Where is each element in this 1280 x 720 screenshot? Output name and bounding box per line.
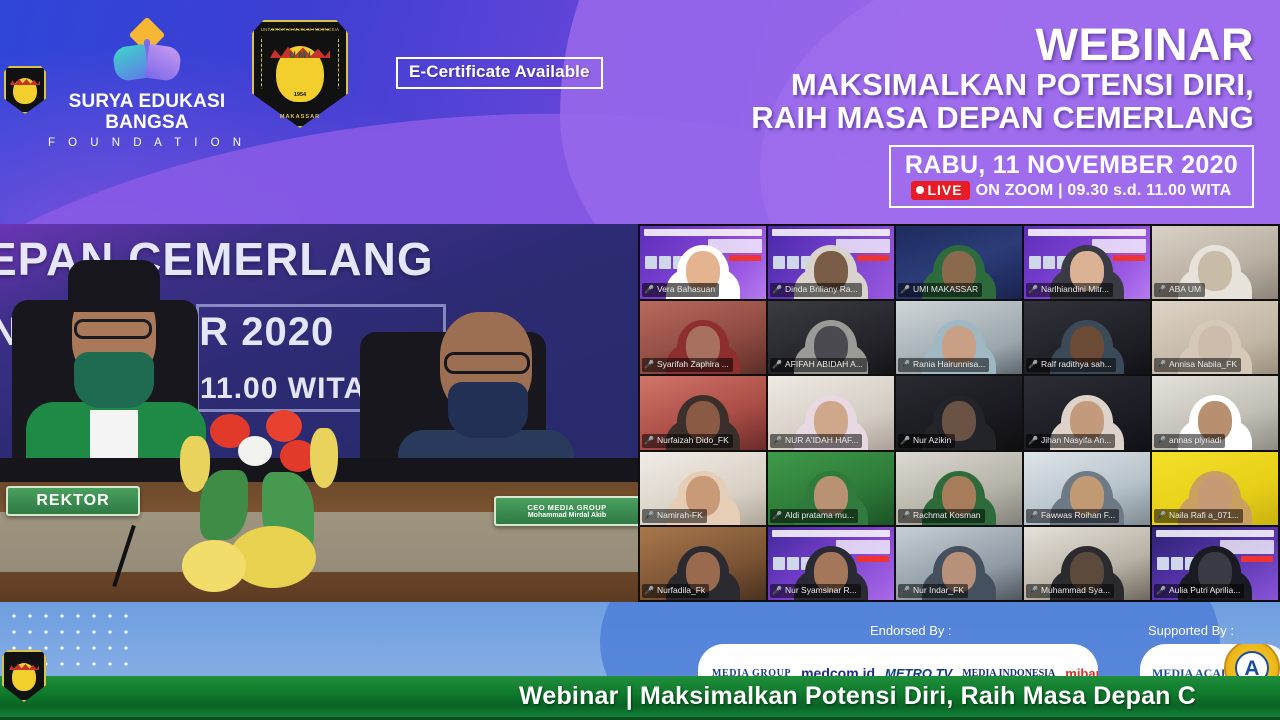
speaker-right-facemask <box>448 382 528 438</box>
participant-tile[interactable]: 🎤Dinda Briliany Ra... <box>768 226 894 299</box>
participant-name-label: 🎤Nurfaizah Dido_FK <box>642 434 733 448</box>
org-subtitle: F O U N D A T I O N <box>42 137 252 149</box>
participant-tile[interactable]: 🎤Syarifah Zaphira ... <box>640 301 766 374</box>
microphone-muted-icon: 🎤 <box>1028 360 1038 369</box>
participant-name-text: Ralf radithya sah... <box>1041 359 1112 370</box>
microphone-muted-icon: 🎤 <box>1156 285 1166 294</box>
event-header-banner: SURYA EDUKASI BANGSA F O U N D A T I O N… <box>0 0 1280 224</box>
participant-tile[interactable]: 🎤Nurfaizah Dido_FK <box>640 376 766 449</box>
participant-tile[interactable]: 🎤Aulia Putri Aprilia... <box>1152 527 1278 600</box>
event-title-block: WEBINAR MAKSIMALKAN POTENSI DIRI, RAIH M… <box>474 22 1254 208</box>
participant-name-label: 🎤AFIFAH ABIDAH A... <box>770 358 867 372</box>
microphone-muted-icon: 🎤 <box>772 360 782 369</box>
participant-name-label: 🎤Rachmat Kosman <box>898 509 985 523</box>
nameplate-ceo-title: CEO MEDIA GROUP <box>527 503 606 512</box>
participant-tile[interactable]: 🎤NUR A'IDAH HAF... <box>768 376 894 449</box>
participant-name-label: 🎤UMI MAKASSAR <box>898 283 982 297</box>
participant-name-text: ABA UM <box>1169 284 1201 295</box>
backdrop-text-line3: 11.00 WITA <box>200 372 366 406</box>
participant-name-text: Fawwas Roihan F... <box>1041 510 1115 521</box>
participant-name-text: Aulia Putri Aprilia... <box>1169 585 1240 596</box>
microphone-muted-icon: 🎤 <box>1156 436 1166 445</box>
participant-name-text: Nurfadila_Fk <box>657 585 705 596</box>
participant-name-label: 🎤Dinda Briliany Ra... <box>770 283 862 297</box>
microphone-muted-icon: 🎤 <box>772 436 782 445</box>
participant-tile[interactable]: 🎤Nur Indar_FK <box>896 527 1022 600</box>
participant-name-text: annas plyriadi <box>1169 435 1221 446</box>
microphone-muted-icon: 🎤 <box>772 511 782 520</box>
participant-name-label: 🎤Syarifah Zaphira ... <box>642 358 733 372</box>
participant-grid[interactable]: 🎤Vera Bahasuan🎤Dinda Briliany Ra...🎤UMI … <box>638 224 1280 602</box>
participant-tile[interactable]: 🎤Nurfadila_Fk <box>640 527 766 600</box>
participant-tile[interactable]: 🎤Nur Syamsinar R... <box>768 527 894 600</box>
participant-name-label: 🎤Muhammad Sya... <box>1026 584 1114 598</box>
speaker-left-songkok <box>68 260 160 312</box>
umi-logo-letters: U M I <box>252 50 348 60</box>
participant-name-text: Annisa Nabila_FK <box>1169 359 1237 370</box>
microphone-muted-icon: 🎤 <box>644 511 654 520</box>
surya-edukasi-bangsa-logo: SURYA EDUKASI BANGSA F O U N D A T I O N <box>42 22 252 149</box>
live-badge: LIVE <box>911 181 969 200</box>
participant-name-text: Narlhiandini Mitr... <box>1041 284 1109 295</box>
participant-tile[interactable]: 🎤Fawwas Roihan F... <box>1024 452 1150 525</box>
participant-tile[interactable]: 🎤Aldi pratama mu... <box>768 452 894 525</box>
main-speaker-video[interactable]: EPAN CEMERLANG NOVEMBER 2020 11.00 WITA <box>0 224 638 602</box>
participant-name-text: AFIFAH ABIDAH A... <box>785 359 863 370</box>
microphone-muted-icon: 🎤 <box>644 436 654 445</box>
event-title-line2: MAKSIMALKAN POTENSI DIRI, <box>474 68 1254 101</box>
participant-name-label: 🎤Nurfadila_Fk <box>642 584 709 598</box>
supported-by-label: Supported By : <box>1148 623 1234 638</box>
participant-tile[interactable]: 🎤Annisa Nabila_FK <box>1152 301 1278 374</box>
participant-name-text: Muhammad Sya... <box>1041 585 1110 596</box>
nameplate-ceo-name: Mohammad Mirdal Akib <box>528 512 606 519</box>
speaker-left-facemask <box>74 352 154 408</box>
participant-name-text: UMI MAKASSAR <box>913 284 978 295</box>
participant-name-label: 🎤Vera Bahasuan <box>642 283 719 297</box>
nameplate-ceo: CEO MEDIA GROUP Mohammad Mirdal Akib <box>494 496 638 526</box>
participant-name-text: Syarifah Zaphira ... <box>657 359 729 370</box>
participant-name-label: 🎤Naila Rafi a_071... <box>1154 509 1243 523</box>
participant-name-label: 🎤ABA UM <box>1154 283 1205 297</box>
microphone-muted-icon: 🎤 <box>1156 586 1166 595</box>
participant-tile[interactable]: 🎤Narlhiandini Mitr... <box>1024 226 1150 299</box>
participant-name-text: NUR A'IDAH HAF... <box>785 435 858 446</box>
participant-name-text: Dinda Briliany Ra... <box>785 284 858 295</box>
microphone-muted-icon: 🎤 <box>1028 436 1038 445</box>
flower-arrangement <box>170 410 400 602</box>
participant-tile[interactable]: 🎤Muhammad Sya... <box>1024 527 1150 600</box>
participant-name-label: 🎤Rania Hairunnisa... <box>898 358 989 372</box>
umi-logo-year: 1954 <box>252 92 348 98</box>
microphone-muted-icon: 🎤 <box>900 285 910 294</box>
endorsed-by-label: Endorsed By : <box>870 623 952 638</box>
umi-logo-bottom-text: MAKASSAR <box>252 114 348 120</box>
event-title-webinar: WEBINAR <box>474 22 1254 68</box>
participant-tile[interactable]: 🎤Nur Azikin <box>896 376 1022 449</box>
live-label: LIVE <box>927 182 962 198</box>
live-dot-icon <box>916 186 924 194</box>
microphone-on-icon: 🎤 <box>644 285 654 294</box>
participant-name-label: 🎤Nur Indar_FK <box>898 584 968 598</box>
participant-tile[interactable]: 🎤Rania Hairunnisa... <box>896 301 1022 374</box>
nameplate-rektor-label: REKTOR <box>36 492 109 510</box>
participant-name-text: Rania Hairunnisa... <box>913 359 985 370</box>
microphone-muted-icon: 🎤 <box>1028 285 1038 294</box>
microphone-muted-icon: 🎤 <box>1156 511 1166 520</box>
participant-tile[interactable]: 🎤UMI MAKASSAR <box>896 226 1022 299</box>
participant-name-text: Aldi pratama mu... <box>785 510 854 521</box>
microphone-muted-icon: 🎤 <box>644 586 654 595</box>
participant-name-text: Jihan Nasyifa An... <box>1041 435 1111 446</box>
speaker-right-glasses <box>444 352 530 374</box>
umi-logo-ticker <box>2 650 46 702</box>
speaker-left-glasses <box>74 319 152 339</box>
participant-name-text: Naila Rafi a_071... <box>1169 510 1239 521</box>
participant-name-label: 🎤Namirah-FK <box>642 509 707 523</box>
microphone-muted-icon: 🎤 <box>644 360 654 369</box>
participant-tile[interactable]: 🎤Naila Rafi a_071... <box>1152 452 1278 525</box>
participant-tile[interactable]: 🎤annas plyriadi <box>1152 376 1278 449</box>
microphone-muted-icon: 🎤 <box>772 285 782 294</box>
participant-tile[interactable]: 🎤AFIFAH ABIDAH A... <box>768 301 894 374</box>
participant-tile[interactable]: 🎤Ralf radithya sah... <box>1024 301 1150 374</box>
participant-tile[interactable]: 🎤Jihan Nasyifa An... <box>1024 376 1150 449</box>
microphone-muted-icon: 🎤 <box>1028 586 1038 595</box>
participant-tile[interactable]: 🎤ABA UM <box>1152 226 1278 299</box>
event-time-row: LIVE ON ZOOM | 09.30 s.d. 11.00 WITA <box>905 181 1238 200</box>
participant-name-label: 🎤Nur Azikin <box>898 434 955 448</box>
microphone-muted-icon: 🎤 <box>772 586 782 595</box>
participant-tile[interactable]: 🎤Rachmat Kosman <box>896 452 1022 525</box>
event-date: RABU, 11 NOVEMBER 2020 <box>905 151 1238 179</box>
umi-university-logo: UNIVERSITAS MUSLIM INDONESIA U M I 1954 … <box>252 20 348 128</box>
event-schedule-box: RABU, 11 NOVEMBER 2020 LIVE ON ZOOM | 09… <box>889 145 1254 208</box>
participant-name-label: 🎤Fawwas Roihan F... <box>1026 509 1119 523</box>
participant-tile[interactable]: 🎤Vera Bahasuan <box>640 226 766 299</box>
umi-logo-top-text: UNIVERSITAS MUSLIM INDONESIA <box>252 27 348 32</box>
book-left-page-icon <box>112 44 149 82</box>
participant-name-label: 🎤annas plyriadi <box>1154 434 1225 448</box>
participant-name-text: Nur Indar_FK <box>913 585 964 596</box>
participant-name-text: Namirah-FK <box>657 510 703 521</box>
participant-name-label: 🎤Aldi pratama mu... <box>770 509 858 523</box>
participant-name-label: 🎤Aulia Putri Aprilia... <box>1154 584 1244 598</box>
participant-name-text: Nurfaizah Dido_FK <box>657 435 729 446</box>
participant-tile[interactable]: 🎤Namirah-FK <box>640 452 766 525</box>
participant-name-label: 🎤NUR A'IDAH HAF... <box>770 434 862 448</box>
org-name: SURYA EDUKASI BANGSA <box>42 92 252 134</box>
microphone-muted-icon: 🎤 <box>900 436 910 445</box>
book-right-page-icon <box>145 44 182 82</box>
participant-name-label: 🎤Ralf radithya sah... <box>1026 358 1116 372</box>
participant-name-text: Nur Syamsinar R... <box>785 585 857 596</box>
ticker-text: Webinar | Maksimalkan Potensi Diri, Raih… <box>519 682 1196 711</box>
bottom-ticker-bar: Webinar | Maksimalkan Potensi Diri, Raih… <box>0 676 1280 720</box>
microphone-muted-icon: 🎤 <box>900 511 910 520</box>
microphone-muted-icon: 🎤 <box>900 586 910 595</box>
microphone-muted-icon: 🎤 <box>1156 360 1166 369</box>
backdrop-text-line1: EPAN CEMERLANG <box>0 232 434 286</box>
participant-name-text: Rachmat Kosman <box>913 510 981 521</box>
microphone-muted-icon: 🎤 <box>900 360 910 369</box>
participant-name-text: Vera Bahasuan <box>657 284 715 295</box>
event-time: ON ZOOM | 09.30 s.d. 11.00 WITA <box>976 182 1232 200</box>
microphone-muted-icon: 🎤 <box>1028 511 1038 520</box>
participant-name-label: 🎤Jihan Nasyifa An... <box>1026 434 1115 448</box>
webinar-broadcast-screen: SURYA EDUKASI BANGSA F O U N D A T I O N… <box>0 0 1280 720</box>
participant-name-label: 🎤Nur Syamsinar R... <box>770 584 861 598</box>
graduation-book-icon <box>108 22 186 86</box>
nameplate-rektor: REKTOR <box>6 486 140 516</box>
umi-logo-footer <box>4 66 46 114</box>
participant-name-label: 🎤Narlhiandini Mitr... <box>1026 283 1113 297</box>
participant-name-text: Nur Azikin <box>913 435 951 446</box>
event-title-line3: RAIH MASA DEPAN CEMERLANG <box>474 101 1254 134</box>
participant-name-label: 🎤Annisa Nabila_FK <box>1154 358 1241 372</box>
